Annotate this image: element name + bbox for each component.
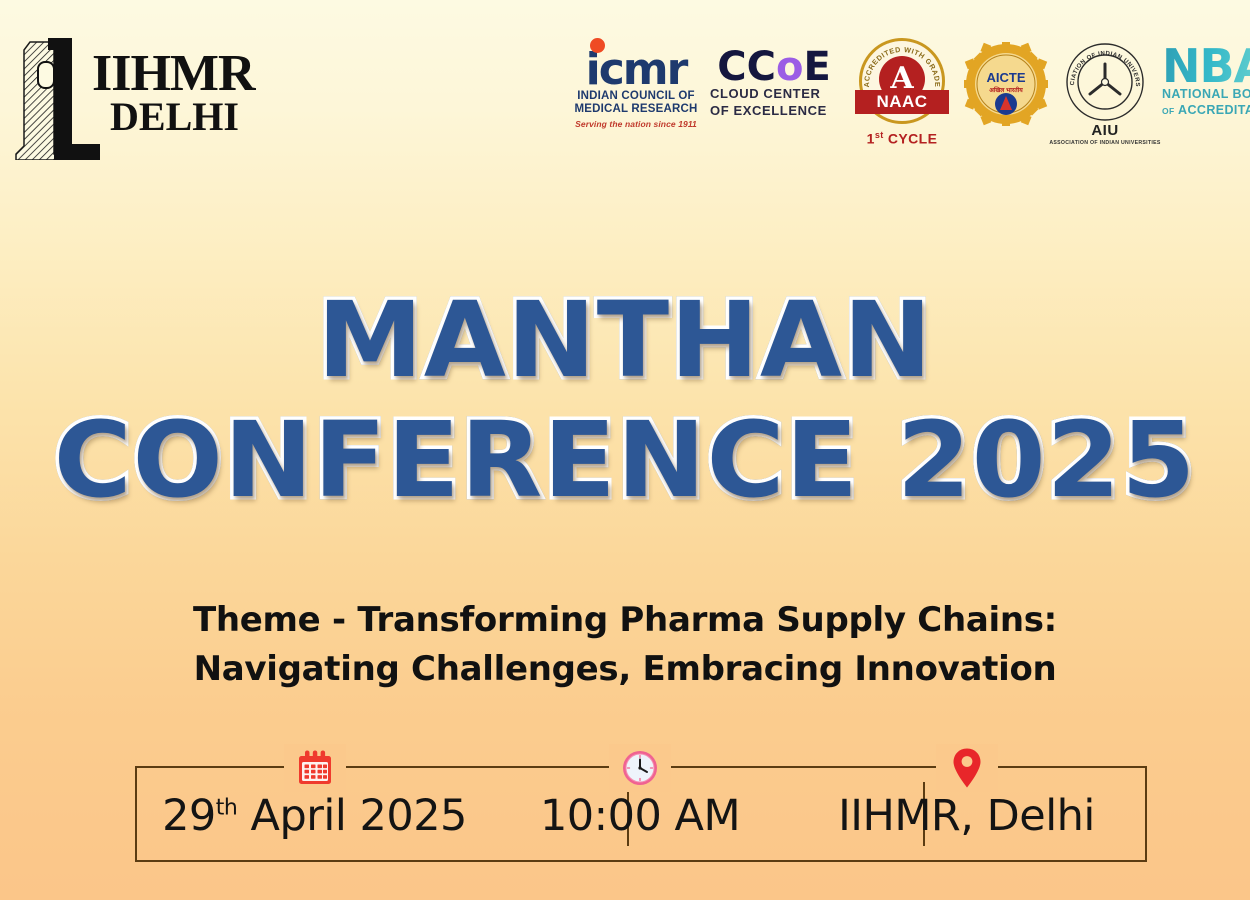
event-venue-cell: IIHMR, Delhi <box>788 768 1145 860</box>
theme-line-1: Theme - Transforming Pharma Supply Chain… <box>0 596 1250 645</box>
location-pin-icon-wrap <box>936 744 998 792</box>
aicte-logo: AICTE अखिल भारतीय <box>960 38 1052 126</box>
icmr-line2: MEDICAL RESEARCH <box>574 103 697 116</box>
nba-logo: NBA NATIONAL BOARD OF ACCREDITATION <box>1162 38 1250 119</box>
aiu-full-name: ASSOCIATION OF INDIAN UNIVERSITIES <box>1049 140 1160 146</box>
calendar-icon <box>296 749 334 787</box>
conference-poster: IIHMR DELHI icmr INDIAN COUNCIL OF MEDIC… <box>0 0 1250 900</box>
icmr-logo: icmr INDIAN COUNCIL OF MEDICAL RESEARCH … <box>570 38 702 129</box>
aiu-seal-icon: ASSOCIATION OF INDIAN UNIVERSITIES <box>1065 42 1145 122</box>
ccoe-line1: CLOUD CENTER <box>710 86 838 103</box>
naac-cycle-label: 1st CYCLE <box>867 130 938 147</box>
event-venue-text: IIHMR, Delhi <box>838 791 1095 841</box>
location-pin-icon <box>951 747 983 789</box>
event-time-text: 10:00 AM <box>540 791 740 841</box>
naac-logo: ACCREDITED WITH GRADE A NAAC 1st CYCLE <box>854 38 950 147</box>
iihmr-name-line1: IIHMR <box>92 50 244 98</box>
event-date-text: 29th April 2025 <box>162 791 467 841</box>
icmr-wordmark: icmr <box>586 50 687 90</box>
nba-line2: OF ACCREDITATION <box>1162 103 1250 119</box>
theme-line-2: Navigating Challenges, Embracing Innovat… <box>0 645 1250 694</box>
title-line-1: MANTHAN <box>0 288 1250 392</box>
iihmr-delhi-logo: IIHMR DELHI <box>14 36 244 166</box>
nba-wordmark: NBA <box>1162 46 1250 87</box>
iihmr-name-line2: DELHI <box>110 98 244 136</box>
aicte-gear-icon: AICTE अखिल भारतीय <box>964 42 1048 126</box>
naac-ribbon: NAAC <box>855 90 949 114</box>
poster-title: MANTHAN CONFERENCE 2025 <box>0 288 1250 512</box>
ccoe-wordmark: CCoE <box>717 48 831 86</box>
nba-line1: NATIONAL BOARD <box>1162 87 1250 103</box>
event-time-cell: 10:00 AM <box>492 768 788 860</box>
event-date-cell: 29th April 2025 <box>137 768 492 860</box>
icmr-dot-icon <box>590 38 605 53</box>
conference-theme: Theme - Transforming Pharma Supply Chain… <box>0 596 1250 695</box>
naac-badge: ACCREDITED WITH GRADE A NAAC <box>859 38 945 124</box>
aiu-logo: ASSOCIATION OF INDIAN UNIVERSITIES AIU A… <box>1058 38 1152 146</box>
clock-icon-wrap <box>609 744 671 792</box>
ccoe-o-letter: o <box>776 44 803 90</box>
iihmr-pillar-mark <box>14 36 100 160</box>
ccoe-line2: OF EXCELLENCE <box>710 103 838 120</box>
calendar-icon-wrap <box>284 744 346 792</box>
clock-icon <box>620 748 660 788</box>
svg-text:अखिल भारतीय: अखिल भारतीय <box>989 86 1023 94</box>
poster-header: IIHMR DELHI icmr INDIAN COUNCIL OF MEDIC… <box>0 0 1250 180</box>
ccoe-logo: CCoE CLOUD CENTER OF EXCELLENCE <box>710 38 838 120</box>
icmr-tagline: Serving the nation since 1911 <box>575 119 697 129</box>
svg-text:AICTE: AICTE <box>987 70 1026 85</box>
accreditation-logos: icmr INDIAN COUNCIL OF MEDICAL RESEARCH … <box>570 38 1250 158</box>
aiu-abbr: AIU <box>1091 123 1118 138</box>
title-line-2: CONFERENCE 2025 <box>0 408 1250 512</box>
iihmr-wordmark: IIHMR DELHI <box>92 50 244 136</box>
event-details-bar: 29th April 2025 <box>135 766 1147 862</box>
